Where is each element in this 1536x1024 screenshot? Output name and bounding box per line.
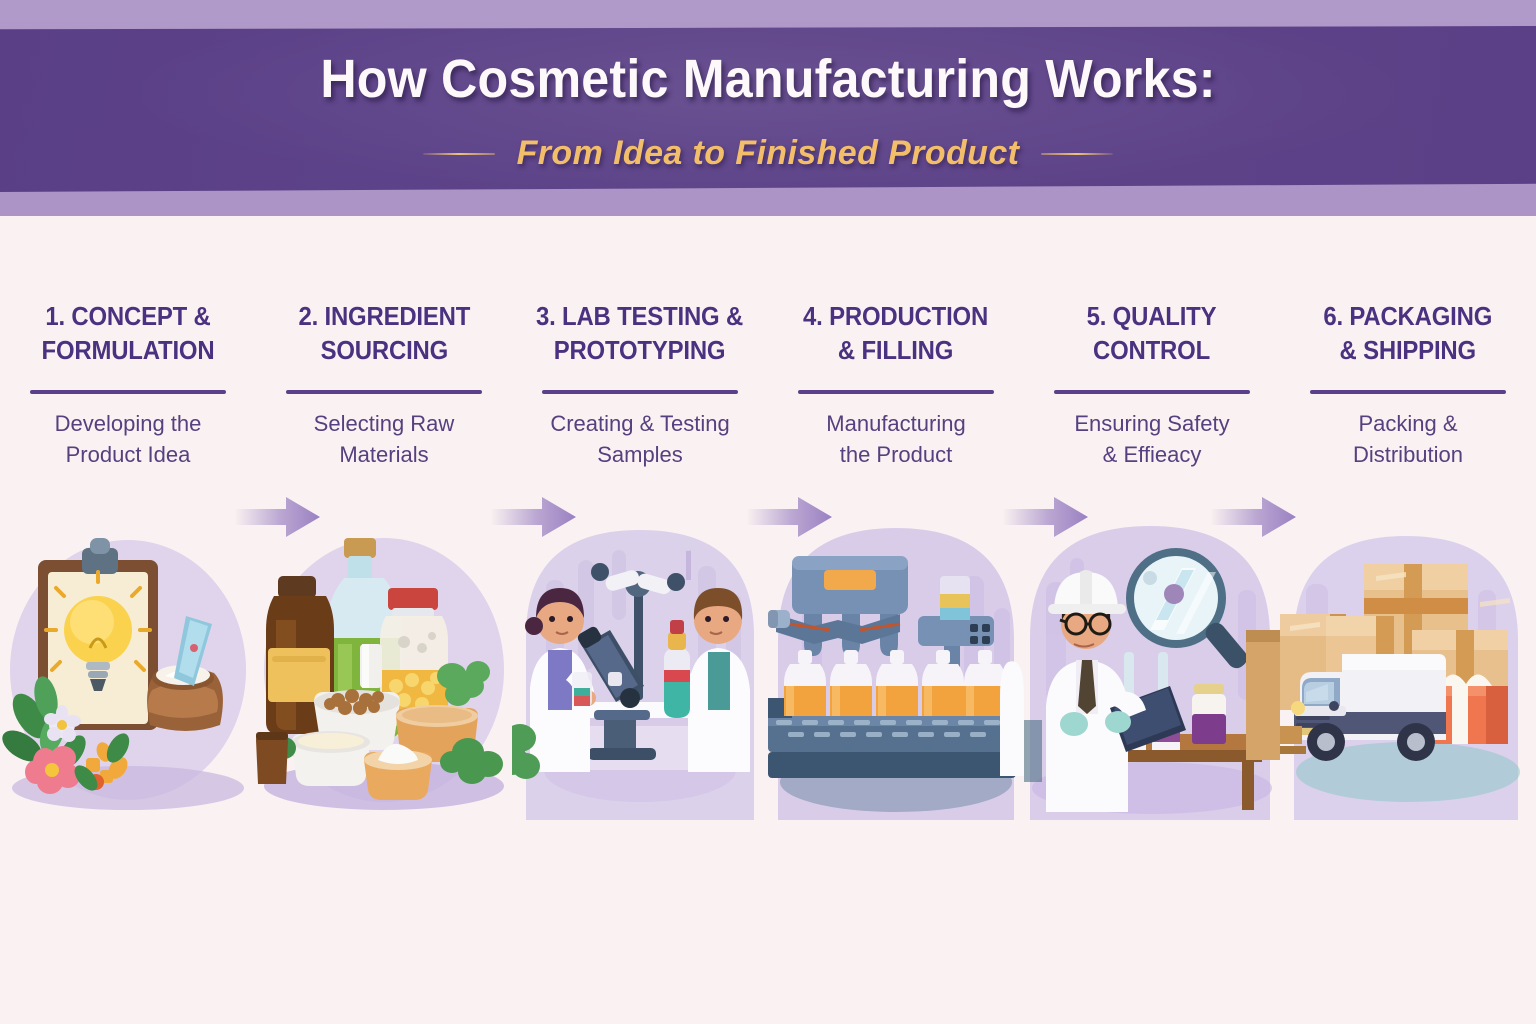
step-subtitle-2-line1: Selecting Raw (314, 411, 455, 436)
illustration-band (0, 520, 1536, 820)
step-subtitle-2-line2: Materials (339, 442, 428, 467)
illustration-quality-control (1024, 520, 1280, 820)
step-subtitle-2: Selecting Raw Materials (314, 408, 455, 470)
step-subtitle-6-line2: Distribution (1353, 442, 1463, 467)
subtitle-row: From Idea to Finished Product (0, 134, 1536, 173)
step-title-1-line2: FORMULATION (42, 335, 215, 365)
illustration-production-filling (768, 520, 1024, 820)
illustration-lab-testing (512, 520, 768, 820)
step-title-2: 2. INGREDIENT SOURCING (298, 300, 470, 372)
step-title-3: 3. LAB TESTING & PROTOTYPING (536, 300, 743, 372)
step-column-6[interactable]: 6. PACKAGING & SHIPPING Packing & Distri… (1280, 300, 1536, 500)
step-subtitle-3: Creating & Testing Samples (550, 408, 729, 470)
step-divider-3 (542, 390, 738, 394)
step-subtitle-3-line2: Samples (597, 442, 683, 467)
step-subtitle-3-line1: Creating & Testing (550, 411, 729, 436)
step-title-1-line1: 1. CONCEPT & (45, 301, 210, 331)
step-title-5-line1: 5. QUALITY (1087, 301, 1217, 331)
step-title-5-line2: CONTROL (1094, 335, 1211, 365)
step-column-2[interactable]: 2. INGREDIENT SOURCING Selecting Raw Mat… (256, 300, 512, 500)
subtitle-dash-left (423, 153, 495, 155)
step-divider-5 (1054, 390, 1250, 394)
step-subtitle-4-line1: Manufacturing (826, 411, 965, 436)
step-title-4-line2: & FILLING (838, 335, 953, 365)
step-subtitle-5: Ensuring Safety & Effieacy (1074, 408, 1229, 470)
step-title-2-line1: 2. INGREDIENT (298, 301, 470, 331)
step-title-4-line1: 4. PRODUCTION (803, 301, 988, 331)
step-title-5: 5. QUALITY CONTROL (1087, 300, 1217, 372)
illustration-ingredient-sourcing (256, 520, 512, 820)
header-banner: How Cosmetic Manufacturing Works: From I… (0, 0, 1536, 216)
step-title-2-line2: SOURCING (320, 335, 447, 365)
step-subtitle-6: Packing & Distribution (1353, 408, 1463, 470)
step-title-6-line2: & SHIPPING (1340, 335, 1476, 365)
step-column-4[interactable]: 4. PRODUCTION & FILLING Manufacturing th… (768, 300, 1024, 500)
step-title-6-line1: 6. PACKAGING (1324, 301, 1493, 331)
step-title-4: 4. PRODUCTION & FILLING (803, 300, 988, 372)
step-divider-6 (1310, 390, 1506, 394)
step-subtitle-1: Developing the Product Idea (55, 408, 202, 470)
illustration-concept-formulation (0, 520, 256, 820)
illustration-packaging-shipping (1280, 520, 1536, 820)
step-subtitle-5-line2: & Effieacy (1103, 442, 1202, 467)
page-subtitle: From Idea to Finished Product (517, 134, 1020, 173)
step-subtitle-4: Manufacturing the Product (826, 408, 965, 470)
step-subtitle-4-line2: the Product (840, 442, 953, 467)
step-column-3[interactable]: 3. LAB TESTING & PROTOTYPING Creating & … (512, 300, 768, 500)
step-subtitle-5-line1: Ensuring Safety (1074, 411, 1229, 436)
process-steps-row: 1. CONCEPT & FORMULATION Developing the … (0, 300, 1536, 500)
step-title-6: 6. PACKAGING & SHIPPING (1324, 300, 1493, 372)
step-subtitle-1-line1: Developing the (55, 411, 202, 436)
step-subtitle-1-line2: Product Idea (66, 442, 191, 467)
page-title: How Cosmetic Manufacturing Works: (54, 48, 1482, 110)
step-title-1: 1. CONCEPT & FORMULATION (42, 300, 215, 372)
step-column-1[interactable]: 1. CONCEPT & FORMULATION Developing the … (0, 300, 256, 500)
subtitle-dash-right (1041, 153, 1113, 155)
step-column-5[interactable]: 5. QUALITY CONTROL Ensuring Safety & Eff… (1024, 300, 1280, 500)
step-divider-2 (286, 390, 482, 394)
step-title-3-line2: PROTOTYPING (554, 335, 726, 365)
step-subtitle-6-line1: Packing & (1358, 411, 1457, 436)
step-title-3-line1: 3. LAB TESTING & (536, 301, 743, 331)
step-divider-1 (30, 390, 226, 394)
step-divider-4 (798, 390, 994, 394)
